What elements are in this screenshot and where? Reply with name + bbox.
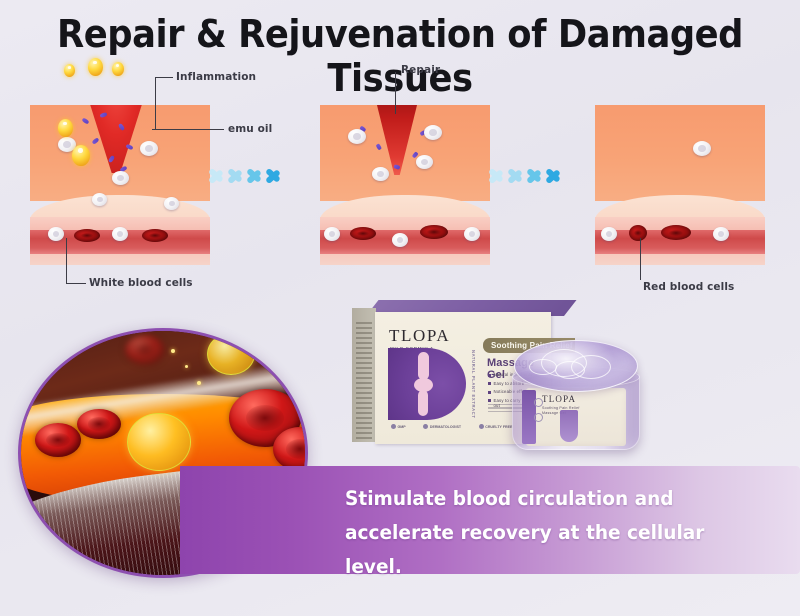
label-inflammation: Inflammation [176, 71, 256, 83]
white-blood-cell [713, 227, 729, 241]
cert-label: GMP [398, 425, 406, 429]
red-blood-cell [142, 229, 168, 242]
wound-inflamed [80, 105, 152, 173]
subcutaneous-layer [320, 254, 490, 265]
white-blood-cell [372, 167, 389, 181]
cert-badge: CRUELTY FREE [479, 424, 513, 429]
red-blood-cell [350, 227, 376, 240]
stage-panel-healed [595, 105, 765, 265]
wbc-leader-v [66, 238, 67, 284]
emu-oil-droplet [207, 333, 255, 375]
box-side-fineprint [356, 322, 372, 442]
red-blood-cell [35, 423, 81, 457]
sparkle-icon [197, 381, 201, 385]
box-side-tag: NATURAL PLANT EXTRACT [471, 350, 476, 419]
inflammation-leader-h [155, 77, 173, 78]
chevron-icon [265, 160, 282, 190]
jar-gel-surface [514, 340, 638, 392]
stage-panel-repairing [320, 105, 490, 265]
white-blood-cell [424, 125, 442, 140]
chevron-icon [507, 160, 524, 190]
chevron-icon [246, 160, 263, 190]
emu-oil-droplet [88, 58, 103, 76]
tibia-shape [418, 390, 428, 416]
repair-leader-v [395, 72, 396, 114]
page-title: Repair & Rejuvenation of Damaged Tissues [28, 12, 772, 100]
emu-oil-droplet [58, 119, 73, 137]
chevron-icon [227, 160, 244, 190]
chevron-icon [545, 160, 562, 190]
box-side-face [352, 308, 376, 442]
epidermis-layer [595, 105, 765, 201]
red-blood-cell [77, 409, 121, 439]
emu-oil-droplet [127, 413, 191, 471]
progress-arrows-2 [488, 160, 562, 190]
label-emu-oil: emu oil [228, 123, 272, 135]
red-blood-cell [74, 229, 100, 242]
wbc-leader-h [66, 283, 86, 284]
chevron-icon [208, 160, 225, 190]
sparkle-icon [185, 365, 188, 368]
emu-oil-leader [152, 129, 224, 130]
banner-text: Stimulate blood circulation and accelera… [345, 482, 754, 584]
white-blood-cell [48, 227, 64, 241]
white-blood-cell [392, 233, 408, 247]
gel-swirl [555, 361, 585, 379]
infographic-root: Repair & Rejuvenation of Damaged Tissues [0, 0, 800, 616]
wound-wedge [80, 105, 152, 173]
label-white-blood-cells: White blood cells [89, 277, 193, 289]
progress-arrows-1 [208, 160, 282, 190]
subcutaneous-layer [30, 254, 210, 265]
red-blood-cell [661, 225, 691, 240]
rbc-leader-v [640, 238, 641, 280]
jar-brand-name: TLOPA [542, 394, 576, 404]
white-blood-cell [693, 141, 711, 156]
inflammation-leader-v [155, 77, 156, 129]
cert-badge: DERMATOLOGIST [423, 424, 461, 429]
banner-line-2: accelerate recovery at the cellular leve… [345, 516, 754, 584]
red-blood-cell [629, 225, 647, 241]
box-brand-name: TLOPA [389, 326, 450, 346]
chevron-icon [526, 160, 543, 190]
white-blood-cell [348, 129, 366, 144]
sparkle-icon [171, 349, 175, 353]
knee-joint-illustration [388, 348, 466, 420]
white-blood-cell [416, 155, 433, 169]
white-blood-cell [112, 171, 129, 185]
emu-oil-droplet [112, 62, 124, 76]
white-blood-cell [112, 227, 128, 241]
red-blood-cell [125, 335, 165, 365]
white-blood-cell [92, 193, 107, 206]
white-blood-cell [324, 227, 340, 241]
emu-oil-droplet [64, 64, 75, 77]
cert-badge: GMP [391, 424, 406, 429]
banner-line-1: Stimulate blood circulation and [345, 482, 754, 516]
white-blood-cell [140, 141, 158, 156]
femur-shape [418, 352, 429, 380]
emu-oil-droplet [72, 145, 90, 166]
white-blood-cell [601, 227, 617, 241]
white-blood-cell [464, 227, 480, 241]
cert-label: DERMATOLOGIST [430, 425, 461, 429]
product-jar: TLOPA Soothing Pain Relief Massage Gel [512, 340, 640, 458]
subcutaneous-layer [595, 254, 765, 265]
chevron-icon [488, 160, 505, 190]
label-red-blood-cells: Red blood cells [643, 281, 734, 293]
cert-label: CRUELTY FREE [485, 425, 512, 429]
jar-label-motif [560, 410, 578, 442]
label-repair: Repair [401, 64, 440, 76]
white-blood-cell [164, 197, 179, 210]
gel-swirl [529, 359, 557, 375]
red-blood-cell [420, 225, 448, 239]
